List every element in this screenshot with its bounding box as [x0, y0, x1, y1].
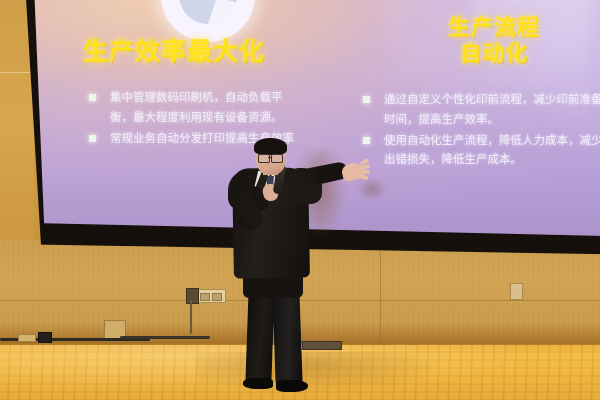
slide-heading-right-line1: 生产流程	[409, 16, 579, 42]
floor-equipment-box	[38, 332, 52, 343]
presenter-shoe-right	[276, 380, 308, 392]
wall-seam	[380, 250, 381, 342]
presenter-shoe-left	[243, 378, 273, 389]
wall-power-outlet	[196, 289, 226, 303]
presentation-photo: 生产效率最大化 集中管理数码印刷机，自动负载平衡，最大程度利用现有设备资源。 常…	[0, 0, 600, 400]
bullet-text: 通过自定义个性化印前流程，减少印前准备时间，提高生产效率。	[384, 90, 600, 130]
floor-cable	[120, 336, 210, 339]
bullet-item: 使用自动化生产流程，降低人力成本，减少出错损失，降低生产成本。	[363, 131, 600, 171]
donut-wedge	[208, 0, 237, 24]
bullet-square-icon	[363, 137, 370, 144]
bullet-text: 集中管理数码印刷机，自动负载平衡，最大程度利用现有设备资源。	[110, 88, 299, 128]
floor-equipment-box	[18, 334, 36, 342]
bullet-text: 使用自动化生产流程，降低人力成本，减少出错损失，降低生产成本。	[384, 131, 600, 171]
bullet-item: 通过自定义个性化印前流程，减少印前准备时间，提高生产效率。	[363, 90, 600, 130]
bullet-square-icon	[363, 96, 370, 103]
slide-heading-right-line2: 自动化	[409, 42, 579, 68]
presenter-leg-left	[245, 290, 274, 383]
floor-vent	[302, 341, 342, 350]
glasses-bridge	[268, 157, 272, 158]
presenter-finger	[361, 170, 370, 174]
floor-cable	[190, 300, 192, 334]
slide-heading-left: 生产效率最大化	[83, 32, 265, 68]
presenter-leg-right	[272, 290, 302, 385]
glasses-icon	[258, 154, 270, 163]
outlet-slot	[200, 293, 210, 301]
glasses-icon	[271, 154, 283, 163]
outlet-plug	[186, 288, 199, 304]
bullet-item: 集中管理数码印刷机，自动负载平衡，最大程度利用现有设备资源。	[89, 88, 299, 128]
slide-bullets-right: 通过自定义个性化印前流程，减少印前准备时间，提高生产效率。 使用自动化生产流程，…	[363, 90, 600, 171]
bullet-square-icon	[89, 94, 96, 101]
bullet-square-icon	[89, 135, 96, 142]
presenter-hair	[254, 138, 287, 155]
outlet-slot	[212, 293, 222, 301]
wall-seam	[0, 72, 30, 73]
slide-heading-right: 生产流程 自动化	[409, 16, 579, 68]
wall-seam	[0, 300, 600, 301]
wall-power-outlet	[510, 283, 523, 300]
hand-shadow	[352, 176, 392, 202]
